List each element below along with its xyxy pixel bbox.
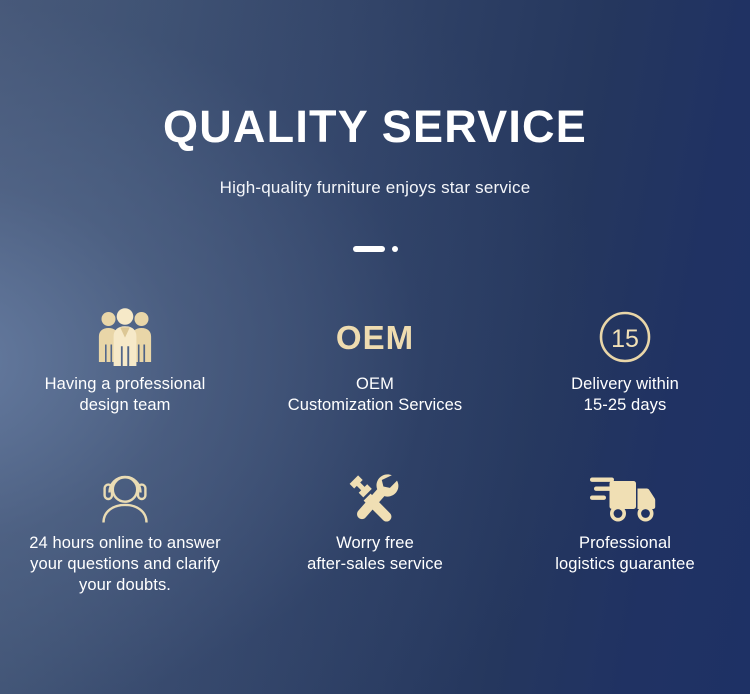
- caption-line: 24 hours online to answer: [29, 533, 220, 554]
- feature-caption: Delivery within 15-25 days: [571, 374, 679, 416]
- feature-caption: Worry free after-sales service: [307, 533, 443, 575]
- caption-line: your questions and clarify: [29, 554, 220, 575]
- caption-line: 15-25 days: [571, 395, 679, 416]
- feature-caption: OEM Customization Services: [288, 374, 463, 416]
- divider-bar-icon: [353, 246, 385, 252]
- caption-line: OEM: [288, 374, 463, 395]
- team-icon: [93, 300, 157, 374]
- feature-grid: Having a professional design team OEM OE…: [0, 300, 750, 623]
- header: QUALITY SERVICE High-quality furniture e…: [0, 104, 750, 196]
- quality-service-banner: QUALITY SERVICE High-quality furniture e…: [0, 0, 750, 694]
- caption-line: logistics guarantee: [555, 554, 694, 575]
- feature-item-oem-customization: OEM OEM Customization Services: [250, 300, 500, 463]
- caption-line: Customization Services: [288, 395, 463, 416]
- page-subtitle: High-quality furniture enjoys star servi…: [0, 179, 750, 196]
- caption-line: after-sales service: [307, 554, 443, 575]
- feature-item-after-sales: Worry free after-sales service: [250, 463, 500, 623]
- feature-item-logistics: Professional logistics guarantee: [500, 463, 750, 623]
- headset-support-icon: [94, 463, 156, 533]
- feature-row-2: 24 hours online to answer your questions…: [0, 463, 750, 623]
- caption-line: your doubts.: [29, 575, 220, 596]
- delivery-truck-icon: [590, 463, 660, 533]
- page-title: QUALITY SERVICE: [0, 104, 750, 149]
- feature-item-delivery-days: 15 Delivery within 15-25 days: [500, 300, 750, 463]
- oem-text-icon: OEM: [336, 300, 414, 374]
- section-divider: [0, 246, 750, 252]
- caption-line: design team: [45, 395, 206, 416]
- feature-row-1: Having a professional design team OEM OE…: [0, 300, 750, 463]
- divider-dot-icon: [392, 246, 398, 252]
- caption-line: Delivery within: [571, 374, 679, 395]
- days-circle-icon: 15: [597, 300, 653, 374]
- oem-icon-label: OEM: [336, 321, 414, 354]
- caption-line: Professional: [555, 533, 694, 554]
- feature-caption: 24 hours online to answer your questions…: [29, 533, 220, 596]
- hammer-wrench-icon: [346, 463, 404, 533]
- caption-line: Worry free: [307, 533, 443, 554]
- feature-item-online-support: 24 hours online to answer your questions…: [0, 463, 250, 623]
- days-circle-number: 15: [611, 325, 639, 353]
- caption-line: Having a professional: [45, 374, 206, 395]
- feature-caption: Professional logistics guarantee: [555, 533, 694, 575]
- feature-caption: Having a professional design team: [45, 374, 206, 416]
- feature-item-design-team: Having a professional design team: [0, 300, 250, 463]
